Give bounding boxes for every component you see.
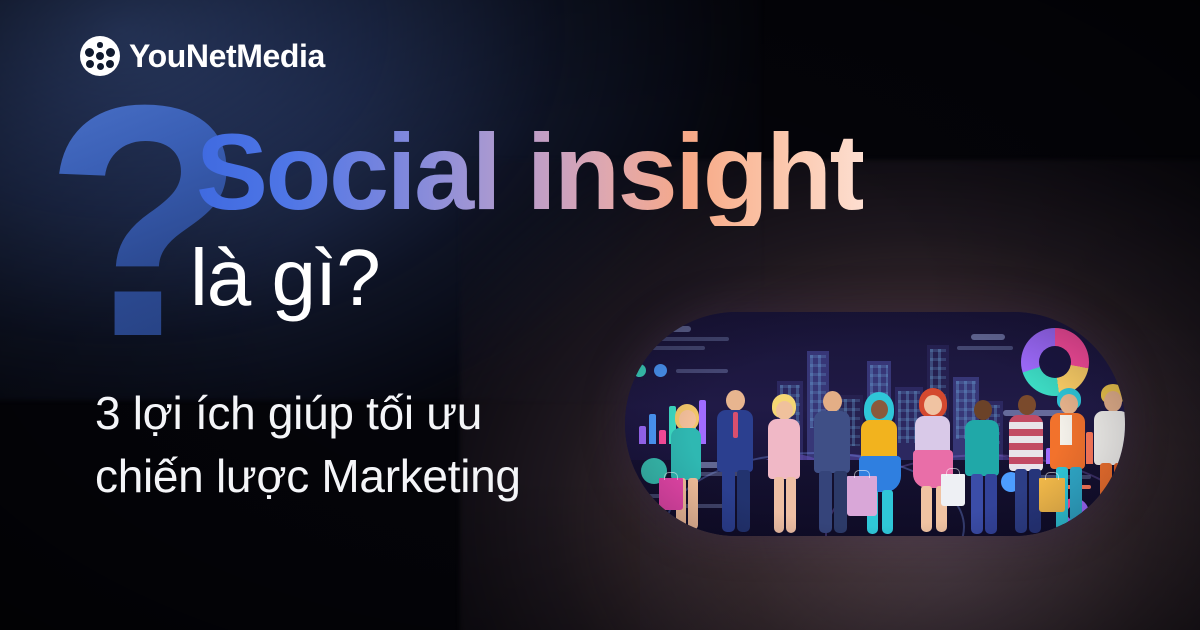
page-title: Social insight (196, 118, 863, 226)
person-figure (1087, 384, 1125, 536)
person-figure (761, 392, 807, 536)
brand-name: YouNetMedia (129, 40, 325, 72)
person-figure (907, 386, 959, 536)
shopping-bag-icon (659, 478, 683, 510)
panel-label (633, 326, 691, 332)
shopping-bag-icon (847, 476, 877, 516)
poster-canvas: YouNetMedia ? Social insight là gì? 3 lợ… (0, 0, 1200, 630)
person-figure (959, 394, 1005, 536)
brand-logo[interactable]: YouNetMedia (80, 36, 325, 76)
person-figure (709, 384, 761, 536)
panel-label (957, 346, 1013, 350)
page-description: 3 lợi ích giúp tối ưu chiến lược Marketi… (95, 382, 521, 509)
shopping-bag-icon (1039, 478, 1065, 512)
younet-network-circle-icon (80, 36, 120, 76)
page-subtitle: là gì? (190, 236, 380, 320)
description-line-2: chiến lược Marketing (95, 445, 521, 508)
description-line-1: 3 lợi ích giúp tối ưu (95, 382, 521, 445)
panel-label (971, 334, 1005, 340)
person-figure (1043, 386, 1093, 536)
illustration-scene (625, 312, 1125, 536)
person-figure (663, 400, 709, 536)
person-figure (853, 390, 905, 536)
hero-illustration (625, 312, 1125, 536)
crowd-of-people (625, 361, 1125, 536)
panel-label (633, 346, 705, 350)
panel-label (633, 337, 729, 341)
